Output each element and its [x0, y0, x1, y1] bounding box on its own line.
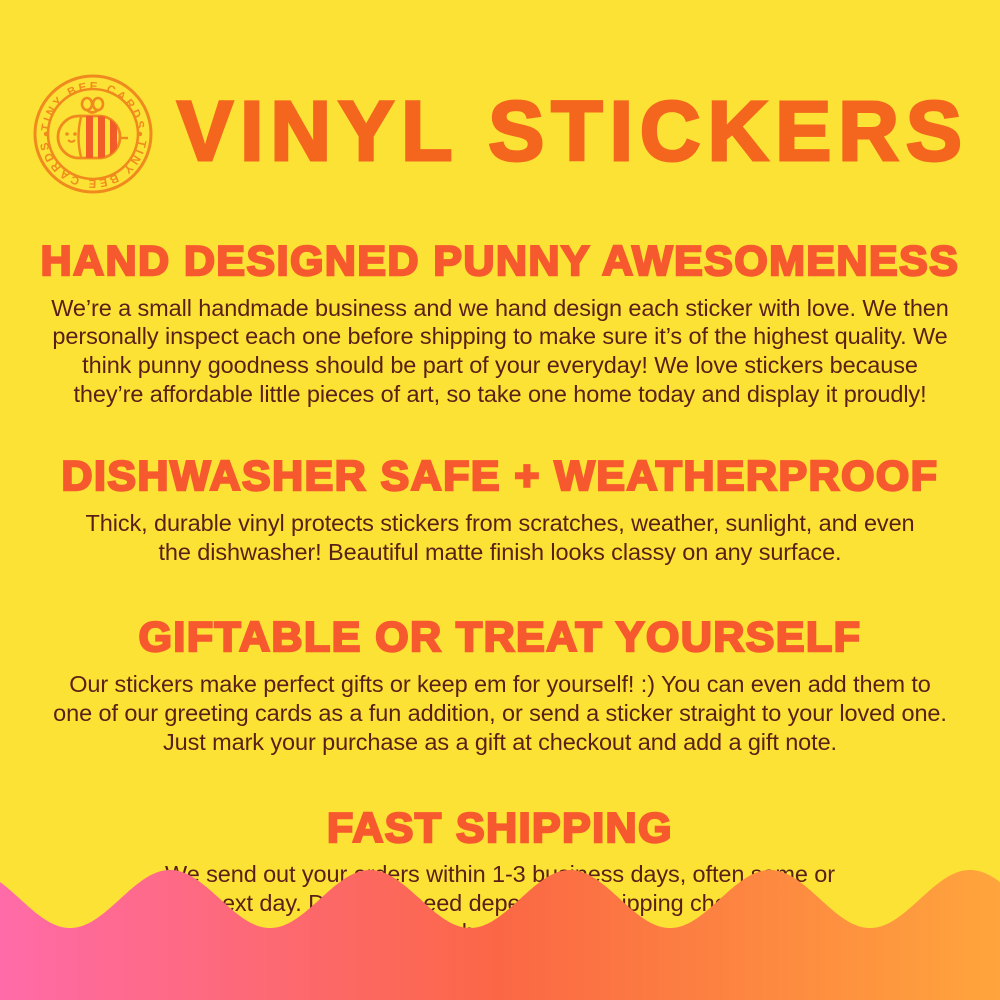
bottom-wave-decoration	[0, 850, 1000, 1000]
section-body: We’re a small handmade business and we h…	[50, 294, 950, 410]
content-sections: HAND DESIGNED PUNNY AWESOMENESS We’re a …	[0, 236, 1000, 947]
section-body: Thick, durable vinyl protects stickers f…	[70, 509, 930, 567]
section-heading: GIFTABLE OR TREAT YOURSELF	[27, 612, 974, 662]
section-giftable: GIFTABLE OR TREAT YOURSELF Our stickers …	[36, 612, 964, 756]
section-heading: FAST SHIPPING	[27, 803, 974, 853]
tiny-bee-cards-logo-icon: TINY BEE CARDS TINY BEE CARDS	[31, 72, 155, 196]
section-heading: DISHWASHER SAFE + WEATHERPROOF	[27, 451, 974, 501]
section-dishwasher-safe: DISHWASHER SAFE + WEATHERPROOF Thick, du…	[36, 451, 964, 566]
section-body: Our stickers make perfect gifts or keep …	[50, 670, 950, 757]
page-header: TINY BEE CARDS TINY BEE CARDS	[0, 0, 1000, 196]
page-title: VINYL STICKERS	[177, 89, 969, 179]
wave-shape	[0, 850, 1000, 1000]
section-hand-designed: HAND DESIGNED PUNNY AWESOMENESS We’re a …	[36, 236, 964, 409]
section-heading: HAND DESIGNED PUNNY AWESOMENESS	[27, 236, 974, 286]
